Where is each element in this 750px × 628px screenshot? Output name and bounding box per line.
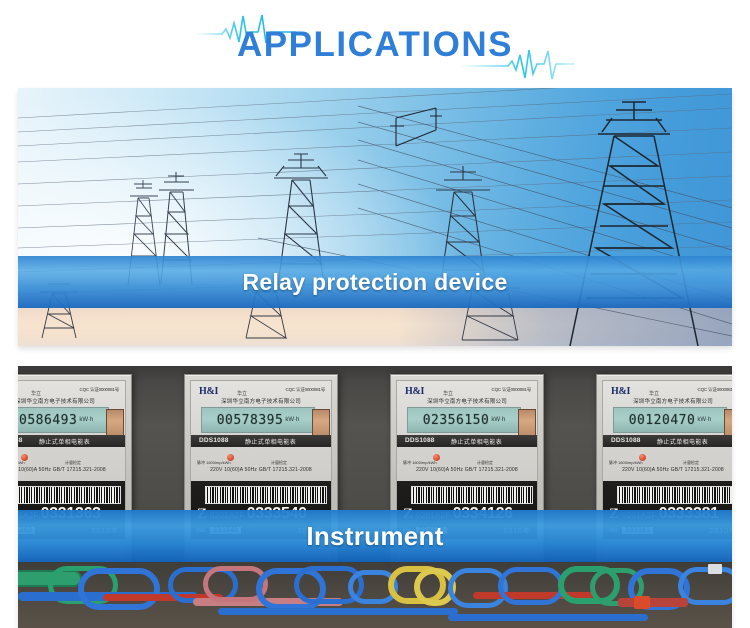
meter-lcd-value: 00578395 bbox=[217, 413, 284, 428]
meter-lcd-unit: kW·h bbox=[285, 417, 299, 423]
meter-cert-label: CQC 认证0000081号 bbox=[286, 387, 325, 393]
meter-model-cn: 静止式单相电能表 bbox=[451, 437, 502, 446]
meter-indicator-left: 脉冲 1600imp/kWh bbox=[403, 460, 437, 466]
meter-cert-label: CQC 认证0000081号 bbox=[492, 387, 531, 393]
meter-indicators: 脉冲 1600imp/kWh 计量检定 bbox=[191, 451, 331, 465]
meter-lcd-display: 02356150 kW·h bbox=[407, 407, 521, 433]
meter-company-name: 深圳华立南方电子技术有限公司 bbox=[603, 397, 732, 405]
cable-bundle bbox=[18, 562, 732, 628]
meter-model: DDS1088 bbox=[611, 437, 641, 444]
meter-model-cn: 静止式单相电能表 bbox=[657, 437, 708, 446]
page-title: APPLICATIONS bbox=[0, 26, 750, 64]
meter-lcd-unit: kW·h bbox=[79, 417, 93, 423]
meter-company-name: 深圳华立南方电子技术有限公司 bbox=[18, 397, 125, 405]
meter-model-bar: DDS1088 静止式单相电能表 bbox=[397, 435, 537, 447]
barcode-icon bbox=[617, 486, 732, 504]
meter-specs: 220V 10(60)A 50Hz GB/T 17215.321-2008 bbox=[191, 467, 331, 473]
meter-indicators: 脉冲 1600imp/kWh 计量检定 bbox=[603, 451, 732, 465]
meter-lcd-display: 00120470 kW·h bbox=[613, 407, 727, 433]
meter-specs: 220V 10(60)A 50Hz GB/T 17215.321-2008 bbox=[603, 467, 732, 473]
caption-text: Instrument bbox=[306, 521, 443, 552]
meter-lcd-unit: kW·h bbox=[697, 417, 711, 423]
meter-lcd-value: 02356150 bbox=[423, 413, 490, 428]
meter-brand: H&I bbox=[199, 386, 218, 397]
meter-indicator-right: 计量检定 bbox=[477, 460, 493, 466]
meter-indicators: 脉冲 1600imp/kWh 计量检定 bbox=[397, 451, 537, 465]
cable-blue bbox=[78, 568, 160, 610]
cable-blue bbox=[448, 614, 648, 621]
electric-meter-photo: H&I 华立 CQC 认证0000081号 深圳华立南方电子技术有限公司 005… bbox=[18, 366, 732, 628]
cable-connector bbox=[634, 596, 650, 609]
meter-model: DDS1088 bbox=[199, 437, 229, 444]
barcode-icon bbox=[18, 486, 121, 504]
transmission-tower-photo: Relay protection device bbox=[18, 88, 732, 346]
meter-brand-cn: 华立 bbox=[649, 390, 659, 397]
meter-lcd-value: 00586493 bbox=[18, 413, 77, 428]
meter-model-bar: DDS1088 静止式单相电能表 bbox=[603, 435, 732, 447]
section-instrument: H&I 华立 CQC 认证0000081号 深圳华立南方电子技术有限公司 005… bbox=[18, 366, 732, 628]
barcode-icon bbox=[205, 486, 327, 504]
page-header: APPLICATIONS bbox=[0, 0, 750, 88]
caption-relay-protection: Relay protection device bbox=[18, 256, 732, 308]
meter-lcd-display: 00578395 kW·h bbox=[201, 407, 315, 433]
meter-brand-cn: 华立 bbox=[31, 390, 41, 397]
caption-instrument: Instrument bbox=[18, 510, 732, 562]
meter-indicator-left: 脉冲 1600imp/kWh bbox=[18, 460, 25, 466]
meter-model: DDS1088 bbox=[405, 437, 435, 444]
meter-indicator-right: 计量检定 bbox=[65, 460, 81, 466]
meter-indicator-right: 计量检定 bbox=[683, 460, 699, 466]
cable-blue bbox=[498, 567, 564, 605]
meter-company-name: 深圳华立南方电子技术有限公司 bbox=[397, 397, 537, 405]
meter-indicator-left: 脉冲 1600imp/kWh bbox=[197, 460, 231, 466]
heartbeat-pulse-icon bbox=[460, 48, 575, 84]
meter-model-bar: DDS1088 静止式单相电能表 bbox=[191, 435, 331, 447]
cable-red bbox=[618, 598, 688, 607]
meter-model-cn: 静止式单相电能表 bbox=[39, 437, 90, 446]
barcode-icon bbox=[411, 486, 533, 504]
meter-specs: 220V 10(60)A 50Hz GB/T 17215.321-2008 bbox=[397, 467, 537, 473]
meter-indicator-right: 计量检定 bbox=[271, 460, 287, 466]
meter-company-name: 深圳华立南方电子技术有限公司 bbox=[191, 397, 331, 405]
meter-lcd-unit: kW·h bbox=[491, 417, 505, 423]
caption-text: Relay protection device bbox=[242, 269, 507, 296]
meter-model: DDS1088 bbox=[18, 437, 23, 444]
meter-cert-label: CQC 认证0000081号 bbox=[80, 387, 119, 393]
meter-cert-label: CQC 认证0000081号 bbox=[698, 387, 732, 393]
meter-specs: 220V 10(60)A 50Hz GB/T 17215.321-2008 bbox=[18, 467, 125, 473]
meter-lcd-display: 00586493 kW·h bbox=[18, 407, 109, 433]
section-relay-protection: Relay protection device bbox=[18, 88, 732, 346]
meter-brand-cn: 华立 bbox=[443, 390, 453, 397]
meter-indicators: 脉冲 1600imp/kWh 计量检定 bbox=[18, 451, 125, 465]
meter-indicator-left: 脉冲 1600imp/kWh bbox=[609, 460, 643, 466]
meter-brand: H&I bbox=[405, 386, 424, 397]
meter-model-cn: 静止式单相电能表 bbox=[245, 437, 296, 446]
meter-brand-cn: 华立 bbox=[237, 390, 247, 397]
meter-lcd-value: 00120470 bbox=[629, 413, 696, 428]
cable-blue bbox=[218, 608, 458, 615]
meter-model-bar: DDS1088 静止式单相电能表 bbox=[18, 435, 125, 447]
meter-brand: H&I bbox=[611, 386, 630, 397]
cable-tag bbox=[708, 564, 722, 574]
